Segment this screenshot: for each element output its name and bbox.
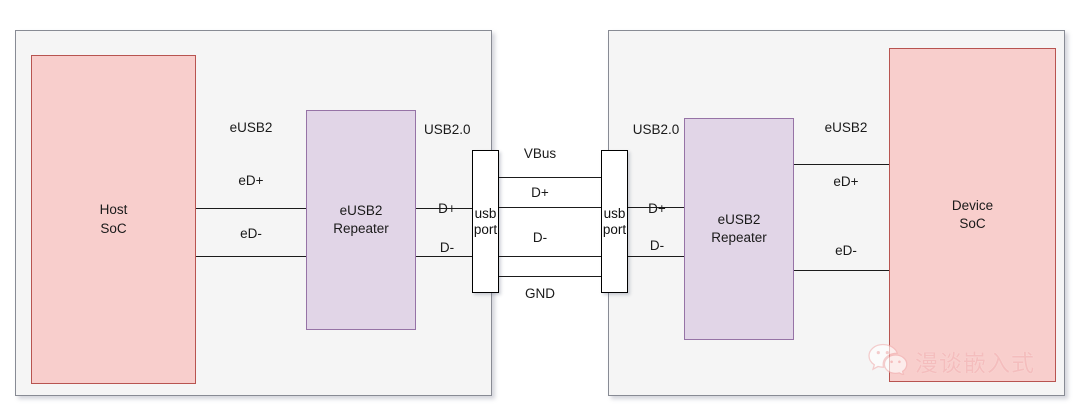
host-usb-port-box[interactable]: usb port bbox=[472, 150, 499, 293]
cable-gnd-wire bbox=[499, 276, 602, 277]
device-usb-signal-label-dp: D+ bbox=[648, 201, 666, 216]
host-usb-dm-wire bbox=[416, 256, 473, 257]
device-usb-port-label-line2: port bbox=[603, 222, 626, 237]
host-edp-wire bbox=[196, 208, 306, 209]
cable-label-vbus: VBus bbox=[524, 146, 556, 161]
host-usb-signal-label-dp: D+ bbox=[438, 201, 456, 216]
device-bus-label-eusb2: eUSB2 bbox=[825, 120, 868, 135]
cable-label-dminus: D- bbox=[533, 230, 547, 245]
host-signal-label-edp: eD+ bbox=[238, 173, 263, 188]
diagram-canvas: Host SoC eUSB2 eD+ eD- eUSB2 Repeater US… bbox=[0, 0, 1080, 416]
cable-vbus-wire bbox=[499, 177, 602, 178]
host-usb-signal-label-dm: D- bbox=[440, 240, 454, 255]
host-eusb2-repeater-box[interactable]: eUSB2 Repeater bbox=[306, 110, 416, 330]
device-usb-port-label: usb port bbox=[603, 206, 626, 238]
host-repeater-label-line2: Repeater bbox=[333, 221, 389, 236]
cable-dminus-wire bbox=[499, 256, 602, 257]
device-edm-wire bbox=[794, 270, 889, 271]
host-soc-label-line1: Host bbox=[100, 202, 128, 217]
device-usb-port-box[interactable]: usb port bbox=[601, 150, 628, 293]
device-soc-label-line1: Device bbox=[952, 198, 993, 213]
host-bus-label-usb20: USB2.0 bbox=[424, 122, 471, 137]
device-usb-signal-label-dm: D- bbox=[650, 238, 664, 253]
device-soc-box[interactable]: Device SoC bbox=[889, 48, 1056, 382]
device-usb-port-label-line1: usb bbox=[604, 206, 626, 221]
host-usb-port-label: usb port bbox=[474, 206, 497, 238]
host-repeater-label: eUSB2 Repeater bbox=[333, 202, 389, 238]
device-repeater-label-line2: Repeater bbox=[711, 230, 767, 245]
host-soc-label-line2: SoC bbox=[100, 221, 126, 236]
cable-dplus-wire bbox=[499, 207, 602, 208]
host-usb-port-label-line2: port bbox=[474, 222, 497, 237]
host-repeater-label-line1: eUSB2 bbox=[340, 203, 383, 218]
device-soc-label-line2: SoC bbox=[959, 216, 985, 231]
device-signal-label-edp: eD+ bbox=[833, 174, 858, 189]
device-repeater-label: eUSB2 Repeater bbox=[711, 211, 767, 247]
cable-label-gnd: GND bbox=[525, 286, 555, 301]
device-eusb2-repeater-box[interactable]: eUSB2 Repeater bbox=[684, 118, 794, 340]
host-usb-port-label-line1: usb bbox=[475, 206, 497, 221]
device-repeater-label-line1: eUSB2 bbox=[718, 212, 761, 227]
host-bus-label-eusb2: eUSB2 bbox=[230, 120, 273, 135]
device-usb-dm-wire bbox=[628, 256, 685, 257]
host-signal-label-edm: eD- bbox=[240, 226, 262, 241]
device-soc-label: Device SoC bbox=[952, 197, 993, 233]
cable-label-dplus: D+ bbox=[531, 185, 549, 200]
device-signal-label-edm: eD- bbox=[835, 243, 857, 258]
device-edp-wire bbox=[794, 164, 889, 165]
device-bus-label-usb20: USB2.0 bbox=[633, 122, 680, 137]
host-soc-label: Host SoC bbox=[100, 201, 128, 237]
host-edm-wire bbox=[196, 256, 306, 257]
host-soc-box[interactable]: Host SoC bbox=[31, 55, 196, 384]
